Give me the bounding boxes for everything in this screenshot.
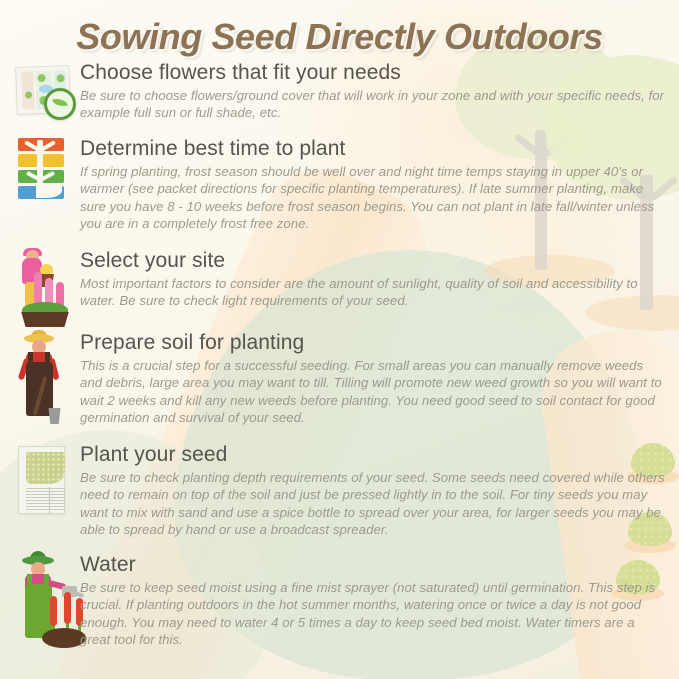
packet-divider (49, 487, 50, 513)
step-text: If spring planting, frost season should … (80, 163, 666, 233)
magnifier-icon (44, 88, 76, 120)
step-text: This is a crucial step for a successful … (80, 357, 666, 427)
step-heading: Determine best time to plant (80, 138, 666, 161)
step-icon-wrapper (14, 554, 86, 650)
step-icon-wrapper (14, 62, 72, 120)
step-icon-wrapper (14, 444, 68, 516)
step-text: Most important factors to consider are t… (80, 275, 666, 310)
bush-soil (624, 538, 676, 553)
step-icon-wrapper (14, 250, 76, 330)
gardener-watering-icon (14, 554, 86, 650)
packet-photo (26, 452, 65, 484)
pink-flower-spike (34, 272, 42, 306)
red-flower (64, 592, 71, 624)
step-text: Be sure to choose flowers/ground cover t… (80, 87, 666, 122)
overall-strap (28, 352, 33, 366)
step-text: Be sure to check planting depth requirem… (80, 469, 666, 539)
packet-text-lines (26, 488, 65, 512)
step-heading: Water (80, 554, 666, 577)
step-body: Plant your seed Be sure to check plantin… (80, 444, 666, 538)
leaf-icon (52, 97, 68, 109)
overall-strap (27, 574, 32, 587)
four-seasons-icon (14, 138, 68, 200)
shovel-blade (47, 408, 62, 424)
step-body: Water Be sure to keep seed moist using a… (80, 554, 666, 648)
step-heading: Choose flowers that fit your needs (80, 62, 666, 85)
step-icon-wrapper (14, 138, 68, 200)
seed-packet-icon (14, 444, 68, 516)
planter-box (18, 312, 72, 327)
step-icon-wrapper (14, 332, 72, 424)
step-heading: Select your site (80, 250, 666, 273)
flower-planter-icon (14, 250, 76, 330)
red-flower (50, 596, 57, 626)
packet-body (18, 446, 65, 514)
step-body: Determine best time to plant If spring p… (80, 138, 666, 232)
step-body: Prepare soil for planting This is a cruc… (80, 332, 666, 426)
step-heading: Prepare soil for planting (80, 332, 666, 355)
infographic-poster: Sowing Seed Directly Outdoors (0, 0, 679, 679)
step-heading: Plant your seed (80, 444, 666, 467)
garden-plan-icon (14, 62, 72, 120)
step-body: Choose flowers that fit your needs Be su… (80, 62, 666, 122)
farmer-with-shovel-icon (14, 332, 72, 424)
page-title: Sowing Seed Directly Outdoors (0, 16, 679, 58)
step-text: Be sure to keep seed moist using a fine … (80, 579, 666, 649)
step-body: Select your site Most important factors … (80, 250, 666, 310)
overall-strap (45, 352, 50, 366)
